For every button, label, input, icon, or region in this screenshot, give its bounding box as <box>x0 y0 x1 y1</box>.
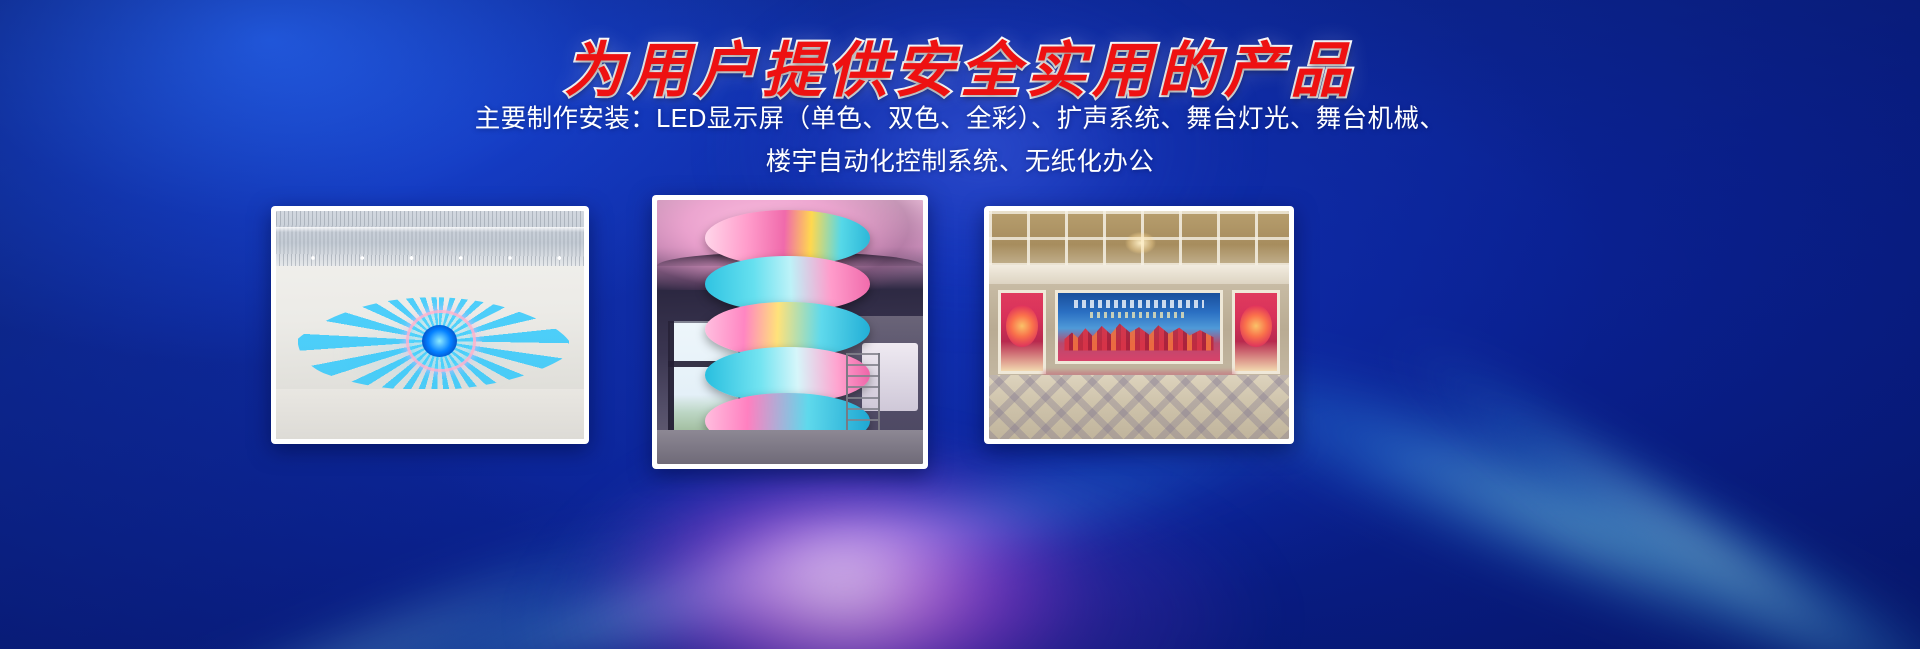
banner-gallery <box>0 0 1920 649</box>
photo3-left-led-panel <box>1001 293 1043 371</box>
photo-eye-shaped-led-display <box>276 211 584 439</box>
photo3-right-led-panel <box>1235 293 1277 371</box>
photo-conference-hall-led-display <box>989 211 1289 439</box>
photo3-main-led-screen <box>1058 293 1220 361</box>
photo-spiral-helix-led-display <box>657 200 923 464</box>
photo2-floor <box>657 430 923 464</box>
promo-banner: 为用户提供安全实用的产品 主要制作安装：LED显示屏（单色、双色、全彩）、扩声系… <box>0 0 1920 649</box>
photo1-floor <box>276 389 584 439</box>
gallery-item-conference-hall-led-display[interactable] <box>984 206 1294 444</box>
photo3-floor <box>989 375 1289 439</box>
gallery-item-spiral-helix-led-display[interactable] <box>652 195 928 469</box>
photo3-chandelier <box>1121 229 1160 256</box>
gallery-item-eye-shaped-led-display[interactable] <box>271 206 589 444</box>
photo1-ceiling <box>276 211 584 266</box>
